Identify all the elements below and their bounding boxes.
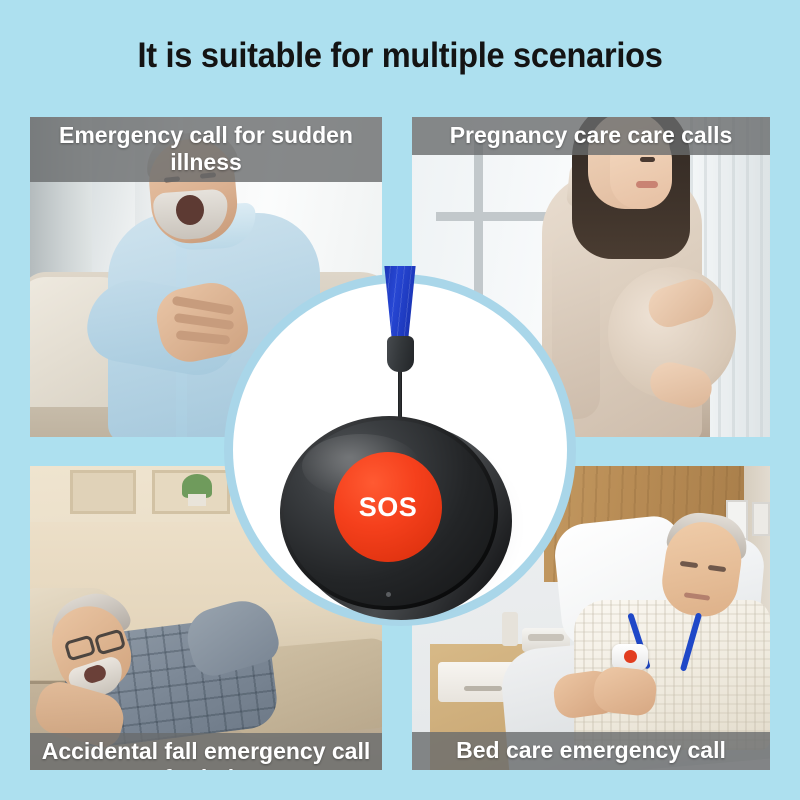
person-mouth [176, 195, 204, 225]
scenario-caption-sudden-illness: Emergency call for sudden illness [30, 117, 382, 182]
caption-line-2: for help [30, 765, 382, 770]
wall-shelf [70, 470, 136, 514]
telephone-handset [528, 634, 564, 641]
person-eye [640, 157, 655, 162]
sos-pendant-button [624, 650, 637, 663]
drawer-handle [464, 686, 502, 691]
page-title: It is suitable for multiple scenarios [28, 36, 772, 76]
sos-device-medallion: SOS [224, 274, 576, 626]
lanyard-cap [387, 336, 414, 372]
caption-line-1: Accidental fall emergency call [30, 738, 382, 765]
wall-outlet [752, 502, 770, 536]
sos-button[interactable]: SOS [334, 452, 442, 562]
person-mouth [636, 181, 658, 188]
microphone-hole-icon [386, 592, 391, 597]
sos-button-label: SOS [359, 494, 418, 521]
scenario-caption-bed-care: Bed care emergency call [412, 732, 770, 770]
scenario-poster: It is suitable for multiple scenarios [0, 0, 800, 800]
scenario-caption-accidental-fall: Accidental fall emergency call for help [30, 733, 382, 770]
plant-pot [188, 494, 206, 506]
scenario-caption-pregnancy-care: Pregnancy care care calls [412, 117, 770, 155]
person-hand-right [592, 665, 658, 717]
